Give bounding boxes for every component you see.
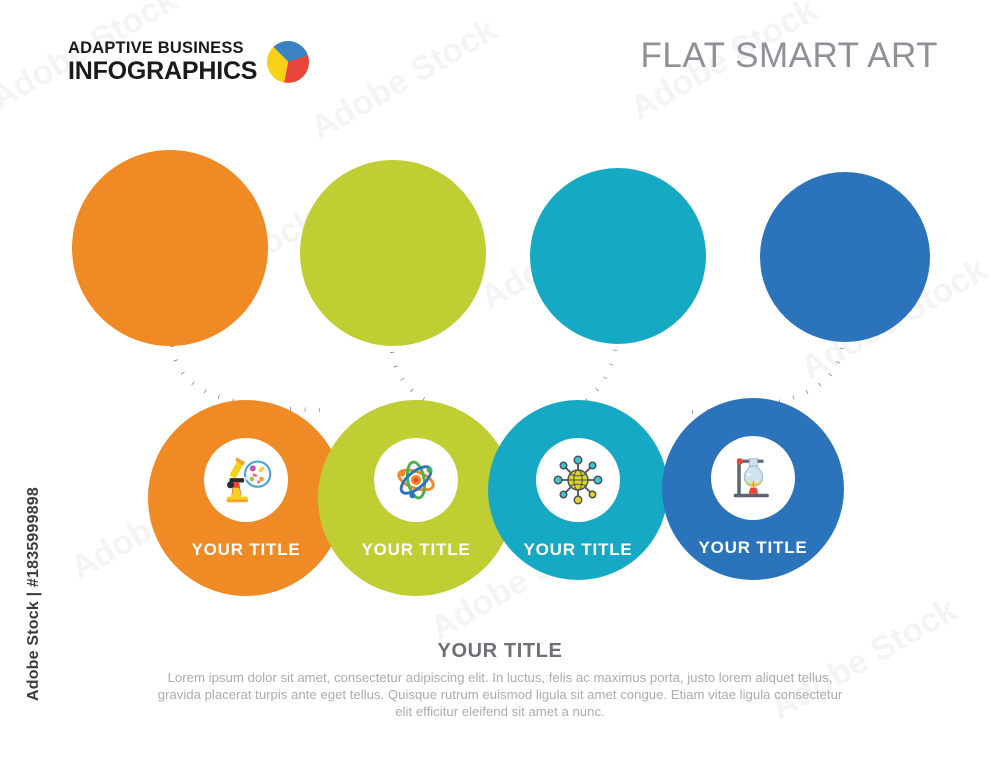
brand-logo-line2: INFOGRAPHICS: [68, 59, 257, 84]
balloon-circle-1: [72, 150, 268, 346]
node-icon-frame-4: [711, 436, 795, 520]
brand-logo-line1: ADAPTIVE BUSINESS: [68, 40, 257, 57]
lab-flask-burner-icon: [725, 450, 781, 506]
node-label-3: YOUR TITLE: [523, 540, 632, 560]
node-icon-frame-3: [536, 438, 620, 522]
node-card-1[interactable]: YOUR TITLE: [148, 400, 344, 596]
page-title: FLAT SMART ART: [641, 36, 938, 76]
brand-logo: ADAPTIVE BUSINESS INFOGRAPHICS: [68, 40, 309, 84]
node-icon-frame-2: [374, 438, 458, 522]
balloon-circle-2: [300, 160, 486, 346]
footer-text-block: YOUR TITLE Lorem ipsum dolor sit amet, c…: [150, 640, 850, 720]
node-card-3[interactable]: YOUR TITLE: [488, 400, 668, 580]
node-label-1: YOUR TITLE: [191, 540, 300, 560]
balloon-circle-4: [760, 172, 930, 342]
atom-icon: [387, 451, 445, 509]
node-label-4: YOUR TITLE: [698, 538, 807, 558]
balloon-circle-3: [530, 168, 706, 344]
brand-logo-text: ADAPTIVE BUSINESS INFOGRAPHICS: [68, 40, 257, 84]
watermark-text: Adobe Stock: [304, 11, 503, 149]
pie-chart-logo-icon: [267, 41, 309, 83]
footer-title: YOUR TITLE: [150, 640, 850, 663]
node-icon-frame-1: [204, 438, 288, 522]
global-network-icon: [549, 451, 607, 509]
infographic-canvas: Adobe Stock Adobe Stock Adobe Stock Adob…: [0, 0, 1000, 781]
node-card-4[interactable]: YOUR TITLE: [662, 398, 844, 580]
footer-body: Lorem ipsum dolor sit amet, consectetur …: [150, 669, 850, 720]
microscope-icon: [215, 449, 277, 511]
stock-credit: Adobe Stock | #1835999898: [25, 474, 43, 714]
node-label-2: YOUR TITLE: [361, 540, 470, 560]
node-card-2[interactable]: YOUR TITLE: [318, 400, 514, 596]
